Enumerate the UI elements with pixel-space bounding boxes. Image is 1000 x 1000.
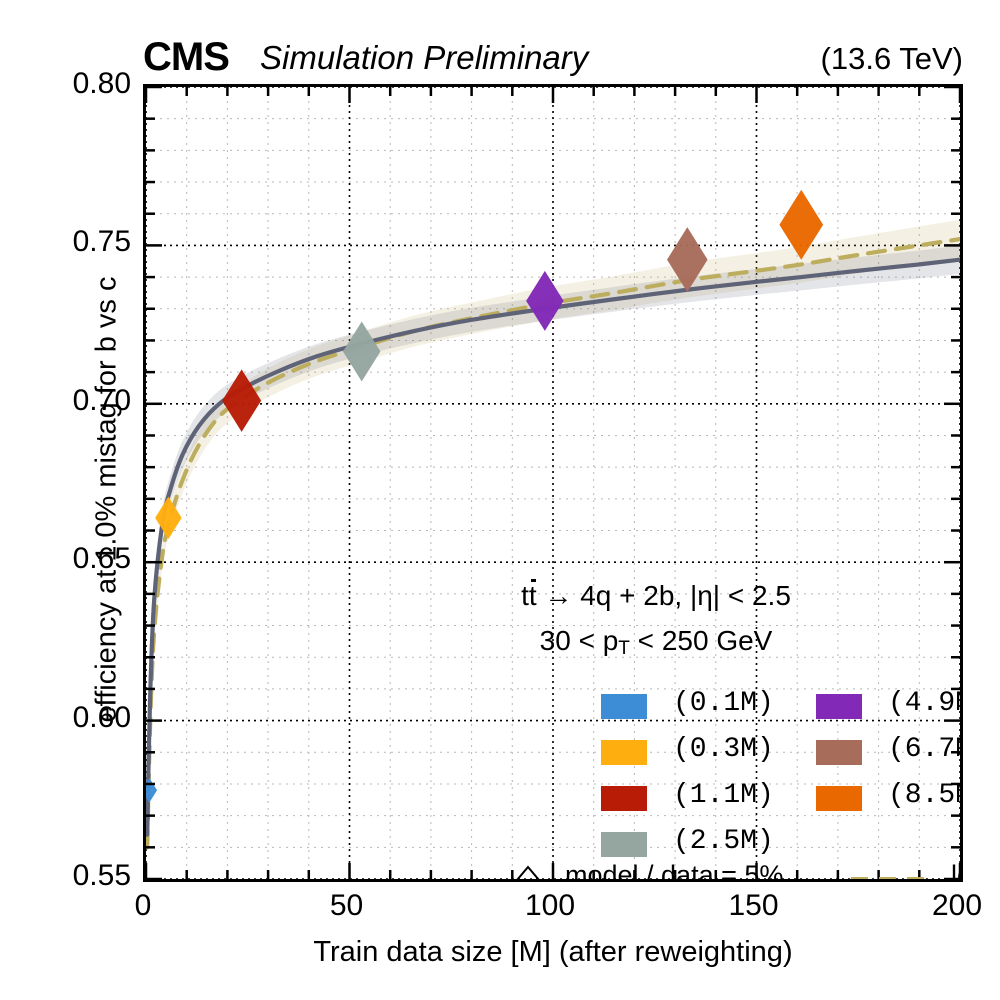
kinematics-post: < 250 GeV [630,625,772,656]
simulation-status-text: Simulation Preliminary [260,35,588,81]
y-tick-label: 0.65 [73,542,131,576]
legend-color-swatch [816,694,862,719]
legend-size-label: (6.7M) [888,734,963,765]
curve-legend-label: log [951,860,963,882]
curve-legend-line-log [851,877,925,882]
energy-label: (13.6 TeV) [821,36,963,82]
legend-row[interactable]: (8.5M) [601,777,963,823]
y-tick-label: 0.75 [73,225,131,259]
kinematics-annotation: 30 < pT < 250 GeV [456,625,856,660]
legend-size-label: (2.5M) [673,826,774,857]
legend-row[interactable]: (4.9M) [601,685,963,731]
cms-logo-text: CMS [143,34,229,80]
x-tick-label: 50 [330,889,363,923]
legend-color-swatch [816,740,862,765]
legend-column-b: (4.9M)(6.7M)(8.5M) [601,685,963,823]
legend-color-swatch [601,832,647,857]
x-tick-label: 200 [932,889,982,923]
model-legend: model / data = 5%logmodel / data = 10%sa… [511,859,963,882]
legend-color-swatch [816,786,862,811]
y-axis-tick-labels: 0.550.600.650.700.750.80 [0,0,131,1000]
legend-size-label: (4.9M) [888,688,963,719]
model-legend-row[interactable]: model / data = 5%log [511,859,963,882]
process-tbar: t [529,580,537,612]
kinematics-pre: 30 < p [540,625,619,656]
process-t1: t [521,580,529,611]
y-tick-label: 0.55 [73,859,131,893]
x-axis-label: Train data size [M] (after reweighting) [143,936,963,969]
process-rest: → 4q + 2b, |η| < 2.5 [537,580,791,611]
diamond-marker-icon [511,863,545,882]
y-tick-label: 0.70 [73,384,131,418]
legend-row[interactable]: (6.7M) [601,731,963,777]
training-size-legend: (0.1M)(0.3M)(1.1M)(2.5M) (4.9M)(6.7M)(8.… [601,685,963,869]
x-tick-label: 150 [728,889,778,923]
model-legend-label: model / data = 5% [565,860,783,882]
process-annotation: tt → 4q + 2b, |η| < 2.5 [456,580,856,612]
legend-size-label: (8.5M) [888,780,963,811]
x-tick-label: 0 [135,889,152,923]
pt-subscript: T [618,638,630,659]
chart-root: CMS Simulation Preliminary (13.6 TeV) ef… [0,0,1000,1000]
y-tick-label: 0.80 [73,67,131,101]
y-tick-label: 0.60 [73,701,131,735]
x-tick-label: 100 [525,889,575,923]
plot-area: tt → 4q + 2b, |η| < 2.5 30 < pT < 250 Ge… [143,84,963,882]
chart-header: CMS Simulation Preliminary (13.6 TeV) [143,34,963,80]
data-point-0.1M [146,778,157,803]
